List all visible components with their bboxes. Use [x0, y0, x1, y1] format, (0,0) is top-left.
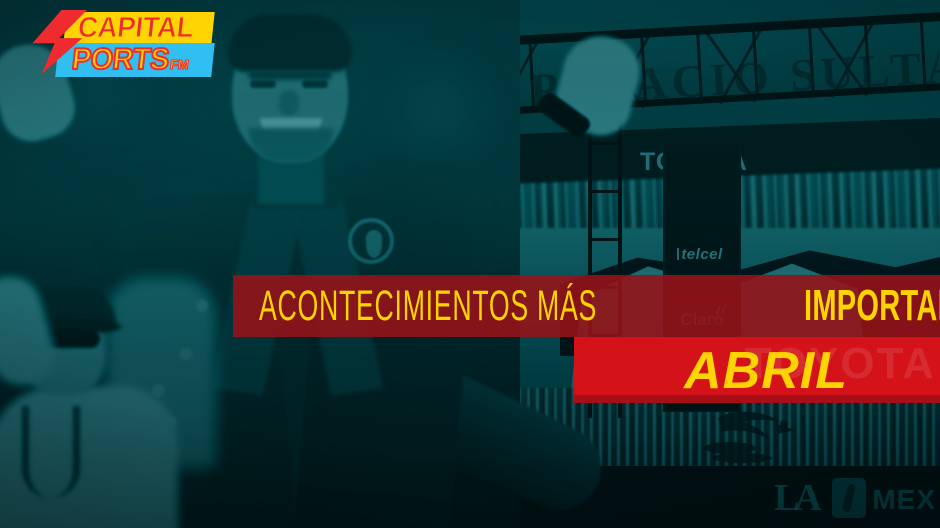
vignette-overlay: [0, 0, 940, 528]
logo-fm-suffix: FM: [169, 58, 189, 72]
logo-word-ports: PORTS: [70, 43, 217, 76]
month-label: ABRIL: [684, 337, 848, 403]
background-photo: PALACIO SULTÁN TOYOTA telcel Claro: [0, 0, 940, 528]
headline-banner: ACONTECIMIENTOS MÁS IMPORTANTES: [233, 275, 940, 337]
month-banner: TOYOTA ABRIL: [574, 337, 940, 403]
headline-bold-text: IMPORTANTES: [804, 275, 940, 337]
promo-graphic: PALACIO SULTÁN TOYOTA telcel Claro: [0, 0, 940, 528]
month-banner-bottom-strip: [574, 395, 940, 403]
headline-light-text: ACONTECIMIENTOS MÁS: [259, 275, 597, 337]
headline-inner: ACONTECIMIENTOS MÁS IMPORTANTES: [259, 275, 940, 337]
logo-word-capital: CAPITAL: [76, 12, 223, 44]
capital-sports-fm-logo[interactable]: CAPITAL PORTS FM: [29, 6, 213, 78]
